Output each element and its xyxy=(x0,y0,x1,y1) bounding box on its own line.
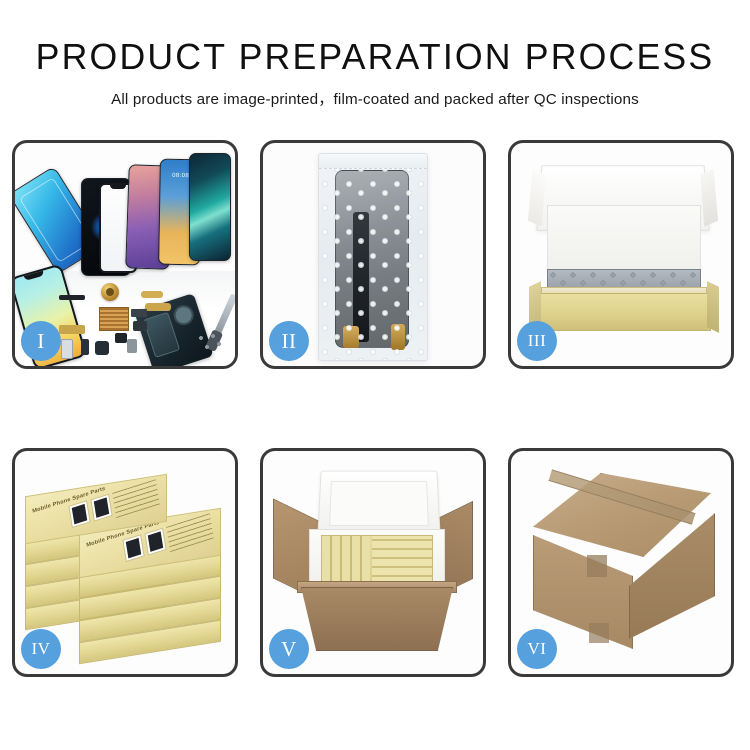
connector-part-4 xyxy=(115,333,127,343)
box-thumbnail-right-1 xyxy=(122,534,144,562)
speaker-part-icon xyxy=(101,283,119,301)
inner-box-front-wall xyxy=(537,293,711,331)
page-subtitle: All products are image-printed，film-coat… xyxy=(0,87,750,109)
connector-part-2 xyxy=(81,339,89,355)
process-step-4[interactable]: Mobile Phone Spare Parts Mobile Phone Sp… xyxy=(12,448,238,677)
bubble-wrap-bag xyxy=(318,153,428,361)
chip-part xyxy=(131,309,147,317)
process-step-2[interactable]: II xyxy=(260,140,486,369)
process-step-6[interactable]: VI xyxy=(508,448,734,677)
page-header: PRODUCT PREPARATION PROCESS All products… xyxy=(0,0,750,109)
bubble-texture xyxy=(319,154,427,360)
inner-box-back-wall xyxy=(547,205,701,277)
carton-front-wall xyxy=(301,587,453,651)
process-step-grid: I II III xyxy=(12,140,738,677)
connector-part-1 xyxy=(61,339,73,359)
step-badge-5: V xyxy=(269,629,309,669)
screws-group-icon xyxy=(197,334,223,352)
carton-tab-lower xyxy=(589,623,609,643)
connector-part-6 xyxy=(133,321,147,331)
flex-cable-part-1 xyxy=(59,325,85,334)
process-step-3[interactable]: III xyxy=(508,140,734,369)
earpiece-part xyxy=(59,295,85,300)
box-thumbnail-right-2 xyxy=(144,528,166,556)
connector-part-3 xyxy=(95,341,109,355)
bag-seal-strip xyxy=(319,154,427,169)
carton-tab-upper xyxy=(587,555,607,577)
step-badge-3: III xyxy=(517,321,557,361)
box-spec-lines-right xyxy=(166,513,214,552)
box-thumbnail-left-2 xyxy=(90,494,112,522)
packed-retail-boxes xyxy=(321,535,433,585)
step-badge-1: I xyxy=(21,321,61,361)
flex-cable-part-3 xyxy=(145,303,171,311)
process-step-1[interactable]: I xyxy=(12,140,238,369)
step-badge-4: IV xyxy=(21,629,61,669)
step-badge-2: II xyxy=(269,321,309,361)
box-spec-lines-left xyxy=(112,479,160,518)
copper-mesh-part xyxy=(99,307,129,331)
step-badge-6: VI xyxy=(517,629,557,669)
foam-box-lid xyxy=(317,471,440,538)
phone-teal-gradient xyxy=(189,153,231,261)
page-title: PRODUCT PREPARATION PROCESS xyxy=(4,38,747,76)
flex-cable-part-2 xyxy=(141,291,163,298)
process-step-5[interactable]: V xyxy=(260,448,486,677)
box-thumbnail-left-1 xyxy=(68,500,90,528)
connector-part-5 xyxy=(127,339,137,353)
